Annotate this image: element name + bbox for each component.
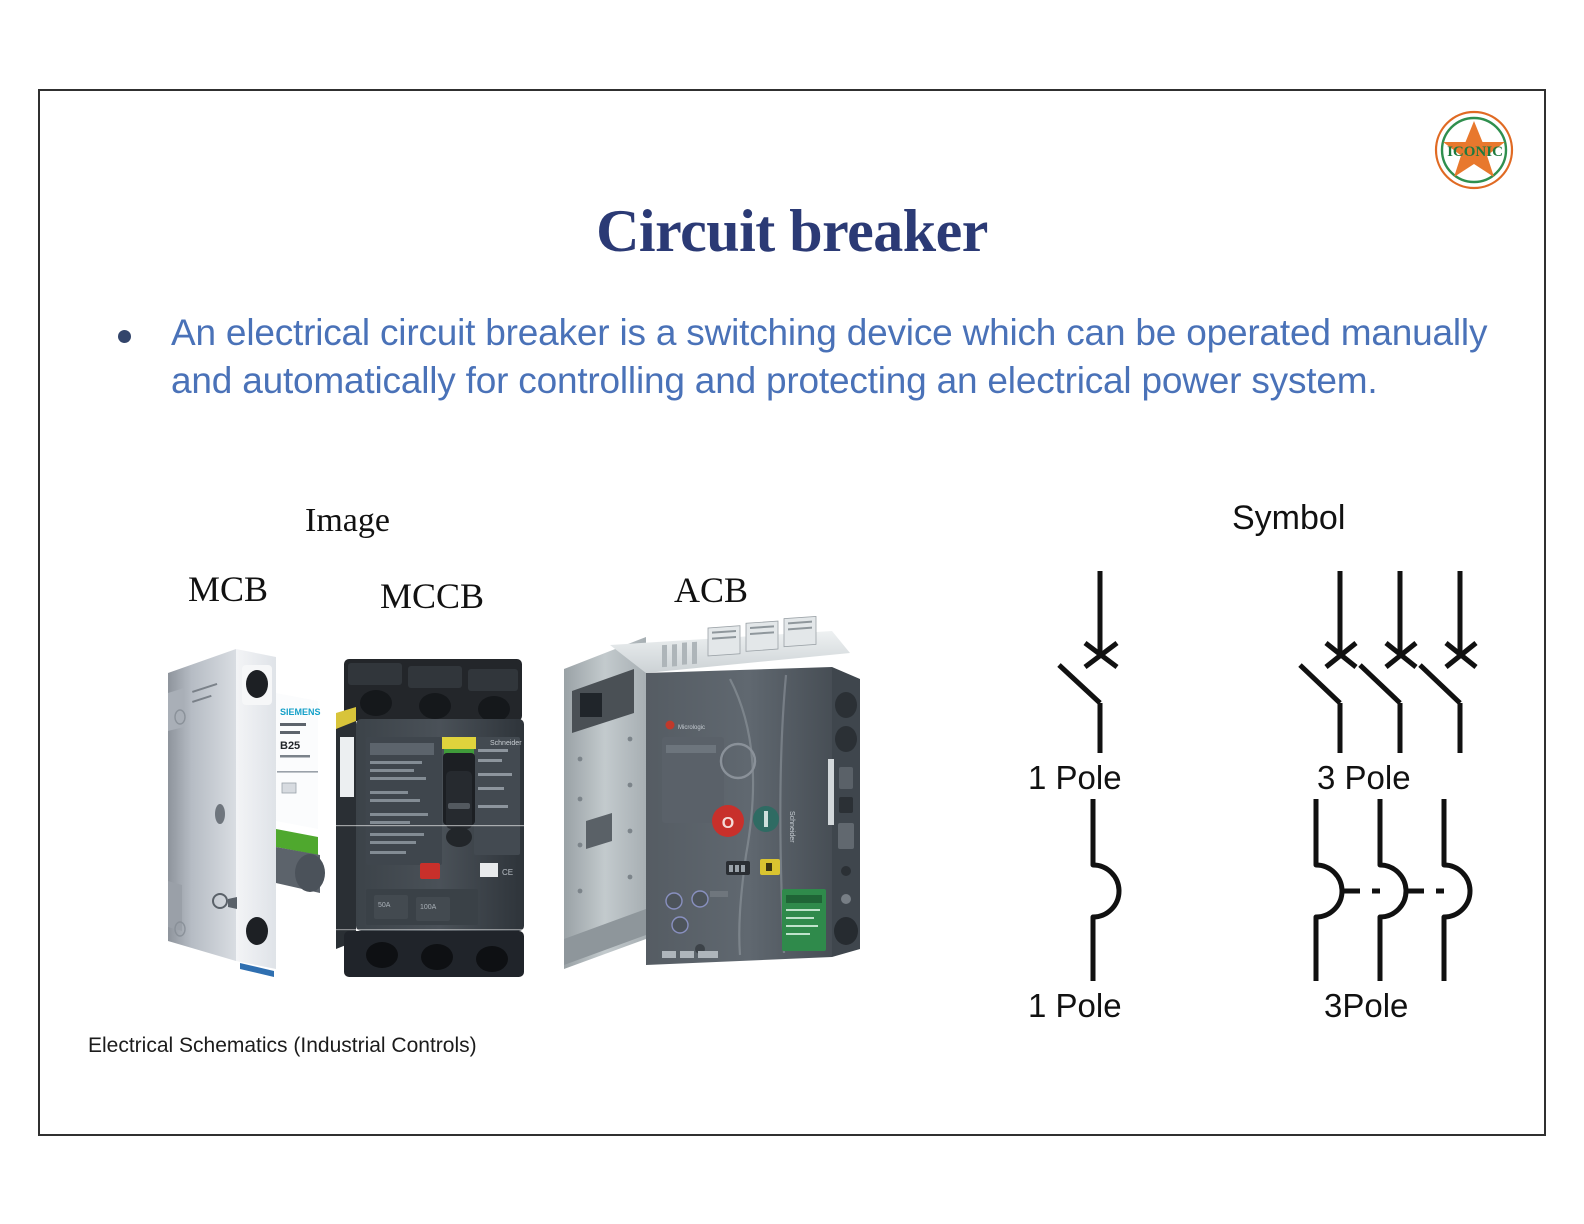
svg-text:Schneider: Schneider	[490, 740, 522, 747]
svg-text:Schneider: Schneider	[788, 811, 795, 843]
symbol-label-breaker-1-pole: 1 Pole	[1028, 759, 1122, 797]
logo-text: ICONIC	[1447, 144, 1503, 160]
bullet-marker-icon	[118, 330, 131, 343]
svg-text:Micrologic: Micrologic	[678, 725, 705, 731]
device-label-acb: ACB	[674, 569, 748, 611]
iconic-logo: ICONIC	[1426, 109, 1522, 191]
svg-text:50A: 50A	[378, 902, 391, 909]
mccb-photo: Schneider CE 50A 100A	[322, 641, 542, 981]
svg-text:B25: B25	[280, 740, 300, 752]
footer-caption: Electrical Schematics (Industrial Contro…	[88, 1034, 477, 1058]
acb-photo: Micrologic O Schneider	[550, 609, 870, 981]
symbol-column-header: Symbol	[1232, 499, 1345, 538]
svg-text:100A: 100A	[420, 904, 437, 911]
page-title: Circuit breaker	[40, 201, 1544, 261]
symbol-contactor-3-pole	[1288, 791, 1488, 986]
device-label-mcb: MCB	[188, 568, 268, 610]
mcb-photo: SIEMENS B25	[158, 631, 338, 991]
device-label-mccb: MCCB	[380, 575, 484, 617]
slide-canvas: ICONIC Circuit breaker An electrical cir…	[38, 89, 1546, 1136]
symbol-label-contactor-3-pole: 3Pole	[1324, 987, 1408, 1025]
svg-text:CE: CE	[502, 868, 513, 877]
svg-text:O: O	[722, 815, 734, 832]
bullet-item-text: An electrical circuit breaker is a switc…	[171, 309, 1538, 405]
symbol-contactor-1-pole	[1035, 791, 1165, 986]
symbol-breaker-1-pole	[1035, 561, 1165, 761]
symbol-label-breaker-3-pole: 3 Pole	[1317, 759, 1411, 797]
svg-text:SIEMENS: SIEMENS	[280, 707, 321, 717]
symbol-label-contactor-1-pole: 1 Pole	[1028, 987, 1122, 1025]
symbol-breaker-3-pole	[1288, 561, 1488, 761]
image-column-header: Image	[305, 502, 390, 540]
bullet-list: An electrical circuit breaker is a switc…	[118, 309, 1538, 405]
